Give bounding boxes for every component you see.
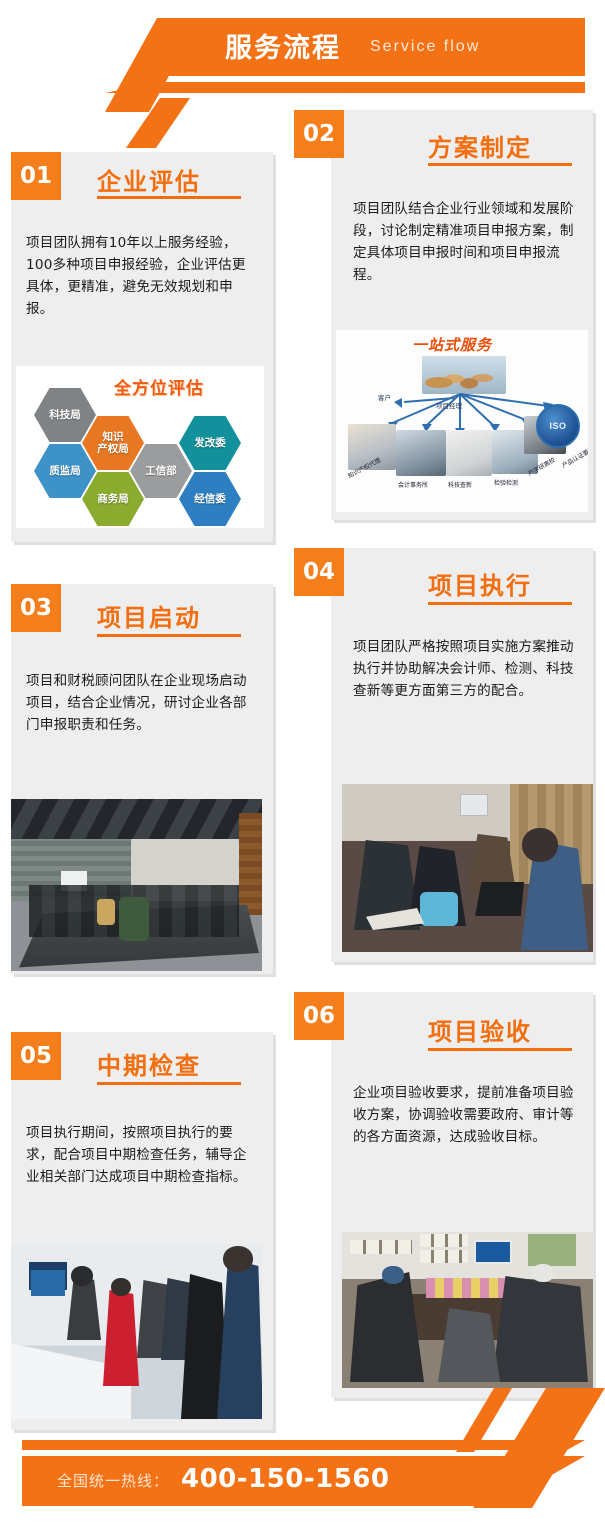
hexagon-node-zhishi: 知识 产权局 [82,416,144,470]
header-bar-stripe [105,82,585,93]
card-06-number-badge: 06 [294,992,344,1040]
hexagon-node-fagaiwei: 发改委 [179,416,241,470]
card-04-title-rule [428,602,572,605]
card-06-photo [342,1232,593,1388]
card-02-number-badge: 02 [294,110,344,158]
page-title: 服务流程 [225,26,341,65]
card-05-photo [11,1244,262,1419]
card-03-number-badge: 03 [11,584,61,632]
card-02-title-rule [428,163,572,166]
card-04-title: 项目执行 [428,566,532,601]
hexagon-node-jingxinwei: 经信委 [179,472,241,526]
hexagon-node-gongxinbu: 工信部 [130,444,192,498]
footer-stripe [22,1440,585,1450]
hexagon-node-keji: 科技局 [34,388,96,442]
header-banner: 服务流程 Service flow [0,0,605,112]
card-01-title-rule [97,196,241,199]
card-04-photo [342,784,593,952]
one-stop-node-manager: 项目经理 [436,400,462,410]
one-stop-photo-accounting [396,430,446,476]
card-01-title: 企业评估 [97,162,201,197]
one-stop-photo-novelty [446,430,492,476]
card-05-title: 中期检查 [97,1046,201,1081]
one-stop-label-accounting: 会计事务所 [398,480,428,489]
hexagon-node-shangwuju: 商务局 [82,472,144,526]
card-06-title-rule [428,1048,572,1051]
card-03-photo [11,799,262,971]
one-stop-label-novelty: 科技查新 [448,480,472,489]
card-03-title-rule [97,634,241,637]
card-05-number-badge: 05 [11,1032,61,1080]
page-subtitle: Service flow [370,38,480,56]
hexagon-node-zhijianju: 质监局 [34,444,96,498]
card-03-title: 项目启动 [97,598,201,633]
card-02-body: 项目团队结合企业行业领域和发展阶段，讨论制定精准项目申报方案，制定具体项目申报时… [353,198,575,286]
card-04-body: 项目团队严格按照项目实施方案推动执行并协助解决会计师、检测、科技查新等更方面第三… [353,636,575,702]
one-stop-certification-seal: ISO [536,404,580,448]
card-02-title: 方案制定 [428,128,532,163]
hotline-number[interactable]: 400-150-1560 [181,1464,390,1494]
hexagon-diagram-title: 全方位评估 [114,374,204,399]
card-05-title-rule [97,1082,241,1085]
card-05-body: 项目执行期间，按照项目执行的要求，配合项目中期检查任务，辅导企业相关部门达成项目… [26,1122,250,1188]
card-04-number-badge: 04 [294,548,344,596]
card-06-title: 项目验收 [428,1012,532,1047]
card-06-body: 企业项目验收要求，提前准备项目验收方案，协调验收需要政府、审计等的各方面资源，达… [353,1082,575,1148]
hotline-label: 全国统一热线： [57,1470,169,1491]
service-flow-infographic: 服务流程 Service flow 01 企业评估 项目团队拥有10年以上服务经… [0,0,605,1538]
card-01-body: 项目团队拥有10年以上服务经验，100多种项目申报经验，企业评估更具体，更精准，… [26,232,250,320]
card-01-number-badge: 01 [11,152,61,200]
one-stop-label-testing: 检验检测 [494,478,518,487]
card-03-body: 项目和财税顾问团队在企业现场启动项目，结合企业情况，研讨企业各部门申报职责和任务… [26,670,250,736]
card-02-one-stop-diagram: 一站式服务 客户 项目经理 ISO 知识产权代理 会计事务所 科技 [336,330,588,512]
one-stop-node-customer: 客户 [378,392,391,402]
header-bar [130,18,585,76]
card-01-hexagon-diagram: 全方位评估 科技局 知识 产权局 发改委 质监局 工信部 商务局 经信委 [16,366,264,528]
